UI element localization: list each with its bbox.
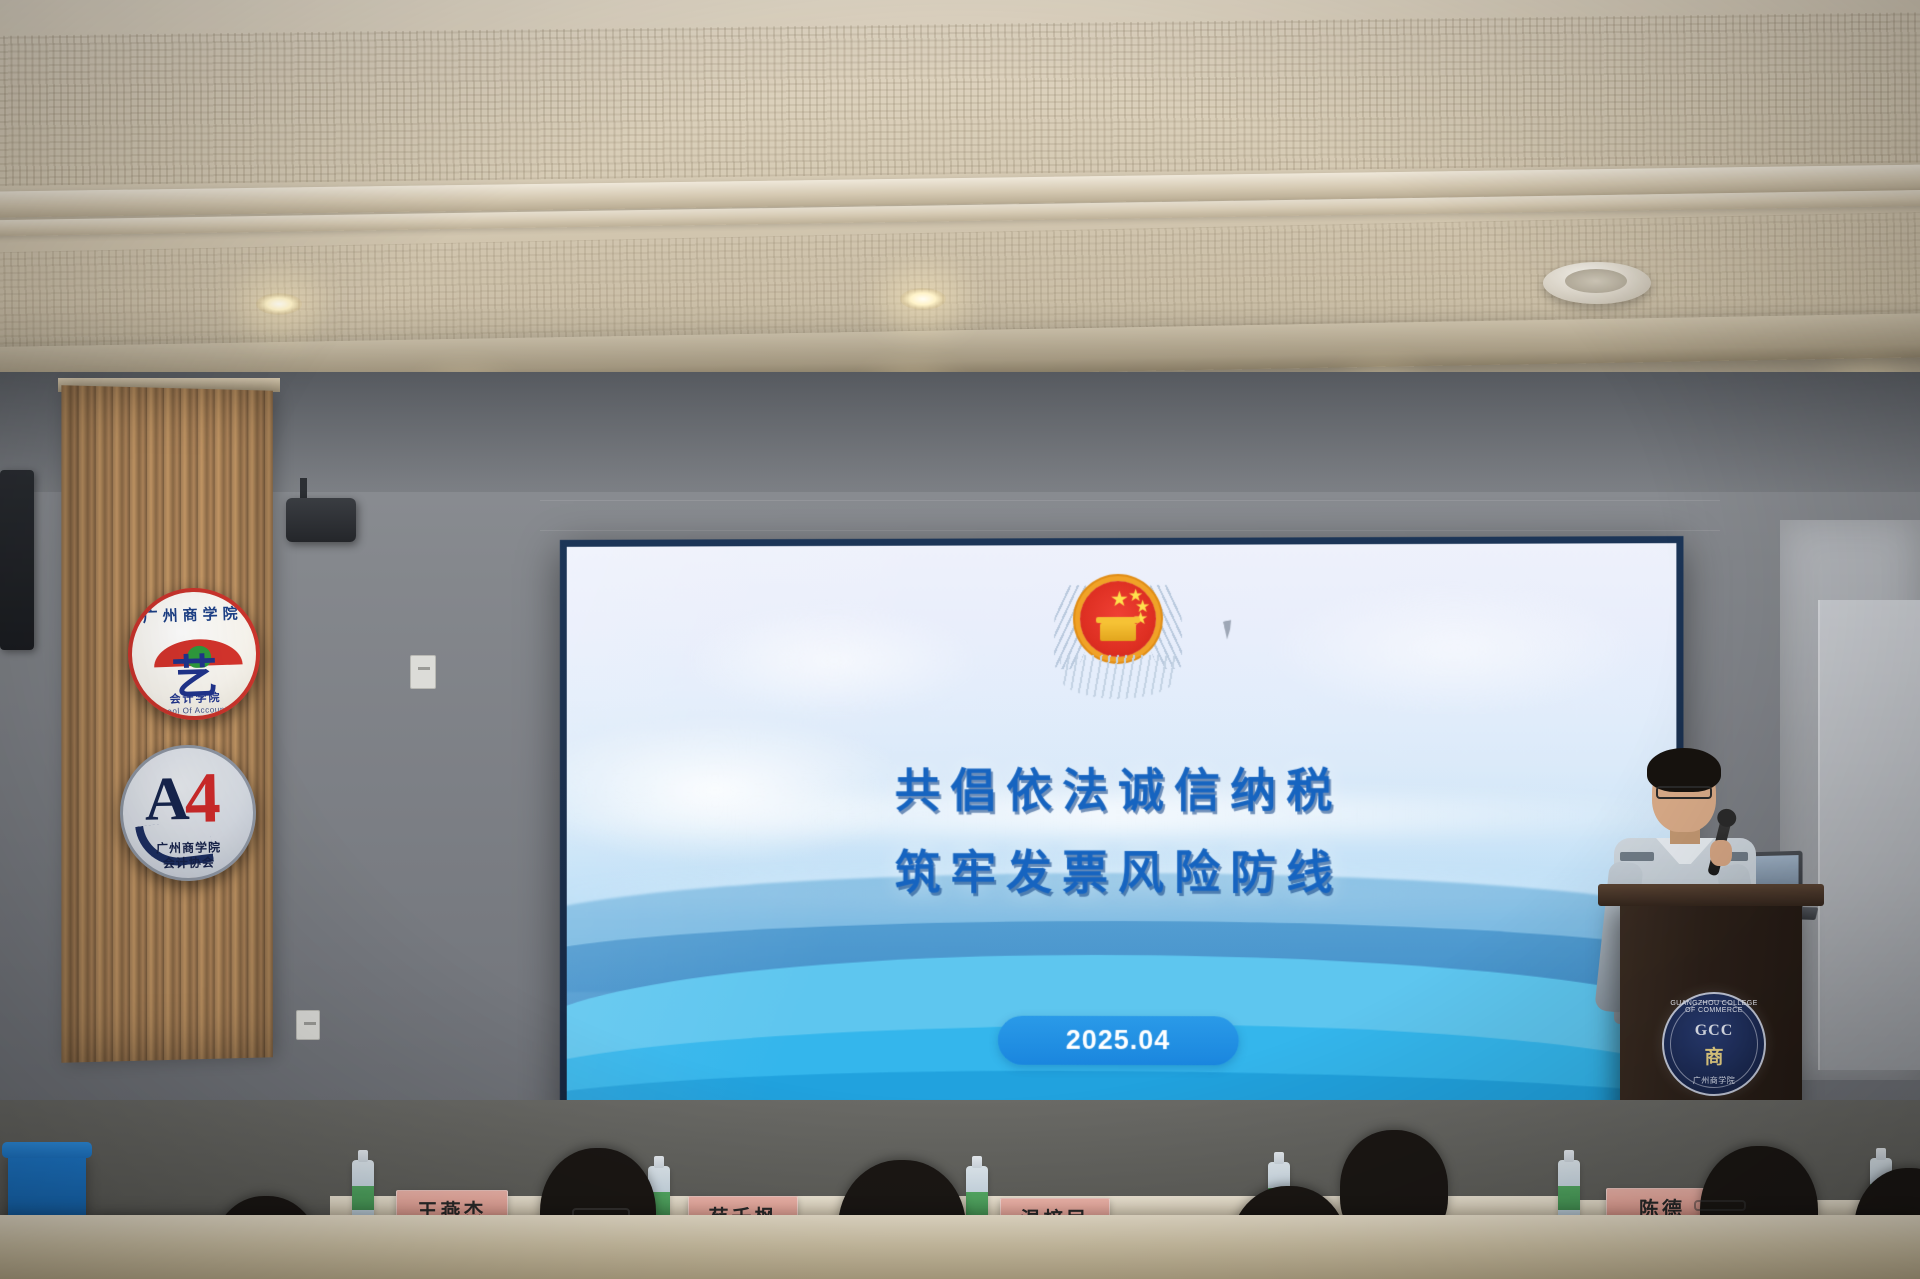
cloud (685, 605, 983, 715)
smoke-detector (1543, 262, 1651, 304)
logo-top-text: 广州商学院 (130, 602, 255, 627)
downlight (256, 293, 302, 315)
wall-speaker (0, 470, 34, 650)
logo-letter-a: A (144, 768, 190, 831)
downlight (900, 288, 946, 310)
glasses-icon (1656, 786, 1712, 799)
ceiling-camera (286, 498, 356, 542)
side-door[interactable] (1818, 600, 1920, 1070)
front-table (0, 1215, 1920, 1279)
bottle-label (1558, 1186, 1580, 1210)
slide-title-line1: 共倡依法诚信纳税 (567, 767, 1677, 814)
tiananmen-gate-icon (1100, 623, 1136, 641)
presentation-slide[interactable]: ★ ★ ★ ★ ★ 共倡依法诚信纳税 筑牢发票风险防线 2025.04 (567, 543, 1677, 1123)
crest-bottom-text: 广州商学院 (1664, 1075, 1764, 1086)
wall-outlet[interactable] (296, 1010, 320, 1040)
bottle-label (966, 1192, 988, 1216)
logo-number-4: 4 (184, 761, 221, 834)
crest-initials: GCC (1664, 1022, 1764, 1040)
led-screen-frame: ★ ★ ★ ★ ★ 共倡依法诚信纳税 筑牢发票风险防线 2025.04 (560, 536, 1684, 1130)
china-tax-emblem: ★ ★ ★ ★ ★ (1056, 579, 1180, 697)
audience-glasses-icon (1694, 1200, 1746, 1211)
gcc-crest: GUANGZHOU COLLEGE OF COMMERCE GCC 商 广州商学… (1662, 992, 1766, 1096)
presenter-epaulette-left (1620, 852, 1654, 861)
emblem-base (1060, 655, 1176, 699)
logo-line2: 会计协会 (124, 853, 254, 872)
star-icon: ★ (1110, 589, 1129, 610)
perforated-ceiling-panel (0, 11, 1920, 187)
accounting-association-logo: A 4 广州商学院 会计协会 (119, 744, 257, 882)
bottle-label (352, 1186, 374, 1210)
school-of-accounting-logo: 广州商学院 艺 会计学院 School Of Accounting (126, 586, 263, 723)
slide-title: 共倡依法诚信纳税 筑牢发票风险防线 (567, 767, 1677, 896)
slide-title-line2: 筑牢发票风险防线 (567, 849, 1677, 896)
wall-upper-shadow (0, 372, 1920, 492)
wall-outlet[interactable] (410, 655, 436, 689)
presenter-hand (1710, 840, 1732, 866)
wood-slat-panel (61, 385, 272, 1063)
cloud (1263, 583, 1646, 714)
crest-ring-text: GUANGZHOU COLLEGE OF COMMERCE (1664, 1000, 1764, 1014)
mouse-cursor-icon (1223, 620, 1235, 639)
blue-stool[interactable] (8, 1150, 86, 1224)
wall-seam (540, 500, 1720, 501)
crest-center-glyph: 商 (1664, 1042, 1764, 1069)
date-badge: 2025.04 (998, 1016, 1239, 1066)
wall-seam (540, 530, 1720, 531)
podium-top (1598, 884, 1824, 906)
lecture-hall-scene: 广州商学院 艺 会计学院 School Of Accounting A 4 广州… (0, 0, 1920, 1279)
